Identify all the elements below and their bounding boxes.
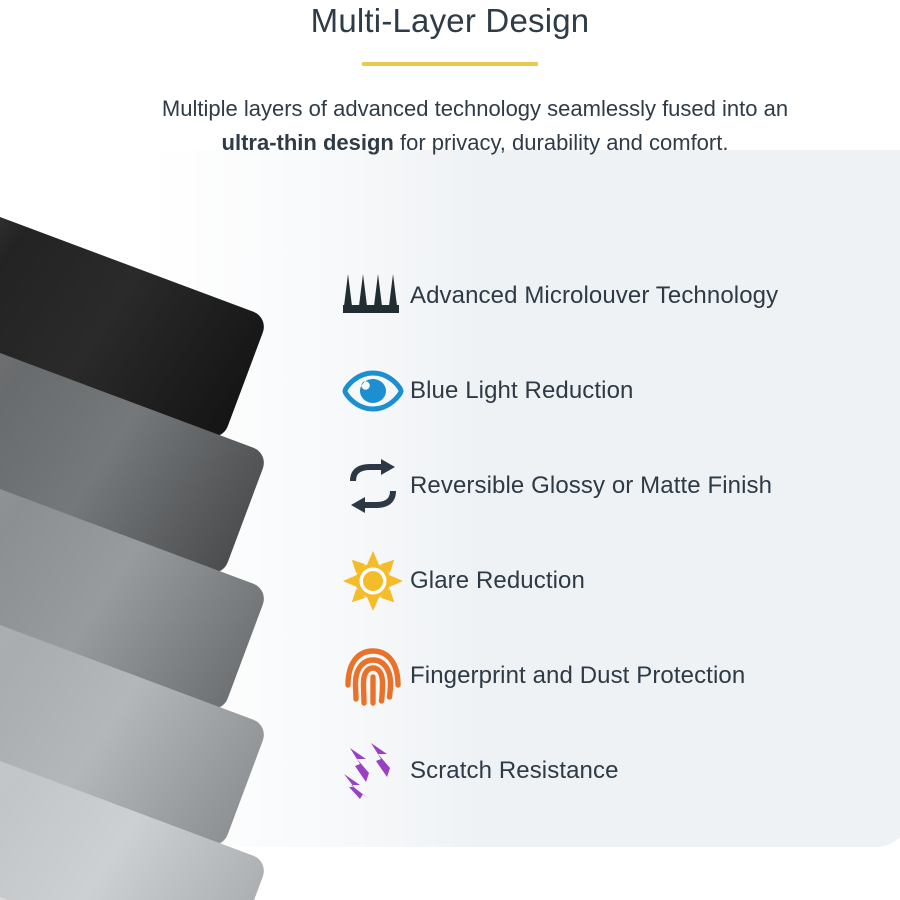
feature-label: Glare Reduction (410, 567, 585, 595)
title-accent-bar (362, 62, 538, 66)
reverse-arrows-icon (336, 449, 410, 523)
feature-item: Fingerprint and Dust Protection (336, 628, 896, 723)
microlouver-icon (336, 259, 410, 333)
feature-list: Advanced Microlouver Technology Blue Lig… (336, 248, 896, 818)
feature-label: Reversible Glossy or Matte Finish (410, 472, 772, 500)
feature-item: Advanced Microlouver Technology (336, 248, 896, 343)
feature-label: Advanced Microlouver Technology (410, 282, 778, 310)
sun-icon (336, 544, 410, 618)
feature-item: Blue Light Reduction (336, 343, 896, 438)
page-title: Multi-Layer Design (0, 2, 900, 40)
scratch-claw-icon (336, 734, 410, 808)
subtitle-line-1: Multiple layers of advanced technology s… (162, 96, 788, 121)
eye-icon (336, 354, 410, 428)
infographic-canvas: Multi-Layer Design Multiple layers of ad… (0, 0, 900, 900)
subtitle-emphasis: ultra-thin design (222, 130, 394, 155)
page-subtitle: Multiple layers of advanced technology s… (80, 92, 870, 160)
feature-item: Scratch Resistance (336, 723, 896, 818)
exploded-layer-stack (0, 60, 340, 900)
feature-item: Reversible Glossy or Matte Finish (336, 438, 896, 533)
feature-item: Glare Reduction (336, 533, 896, 628)
feature-label: Fingerprint and Dust Protection (410, 662, 745, 690)
subtitle-line-2-rest: for privacy, durability and comfort. (394, 130, 729, 155)
feature-label: Scratch Resistance (410, 757, 619, 785)
feature-label: Blue Light Reduction (410, 377, 633, 405)
fingerprint-icon (336, 639, 410, 713)
